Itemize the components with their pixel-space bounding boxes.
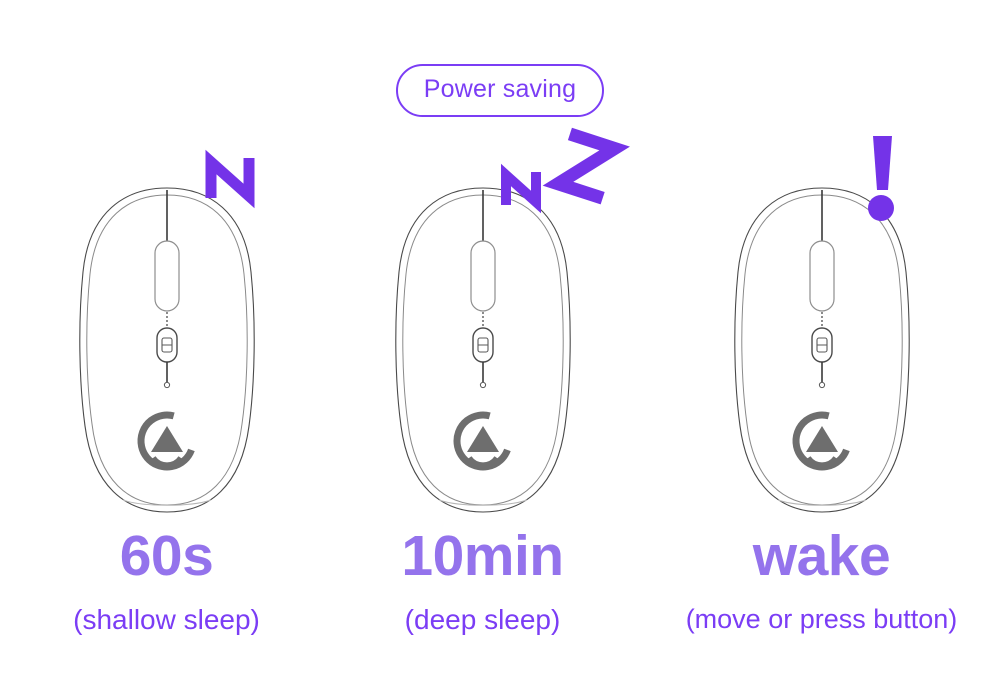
mouse-bottom-lip [123, 500, 211, 505]
stages-container: 60s (shallow sleep) [0, 0, 1000, 688]
mouse-illustration-wake [722, 186, 922, 516]
mouse-brand-logo [133, 408, 200, 475]
exclamation-mark-icon [868, 136, 894, 221]
mouse-sensor-dot [480, 382, 485, 387]
stage-shallow-sleep: 60s (shallow sleep) [0, 0, 333, 688]
wake-mark-group [855, 132, 1000, 222]
sleep-mark-group-deep [497, 132, 687, 222]
brand-logo-arc [153, 458, 181, 465]
brand-logo-arc [808, 458, 836, 465]
mouse-sensor-dot [164, 382, 169, 387]
stage-title-deep-sleep: 10min [316, 528, 649, 585]
mouse-brand-logo [788, 408, 855, 475]
sleep-mark-group-shallow [190, 132, 380, 222]
sleep-z-icon-small [506, 172, 536, 205]
exclamation-dot [868, 195, 894, 221]
mouse-illustration-deep-sleep [383, 186, 583, 516]
mouse-scroll-wheel [471, 241, 495, 311]
stage-deep-sleep: 10min (deep sleep) [316, 0, 649, 688]
sleep-z-icon-small [211, 158, 249, 198]
mouse-scroll-wheel [155, 241, 179, 311]
brand-logo-triangle [151, 426, 183, 452]
mouse-bottom-lip [439, 500, 527, 505]
mouse-brand-logo [449, 408, 516, 475]
brand-logo-triangle [806, 426, 838, 452]
brand-logo-arc [469, 458, 497, 465]
sleep-z-icon-large [554, 134, 618, 198]
brand-logo-triangle [467, 426, 499, 452]
stage-title-wake: wake [655, 528, 988, 585]
mouse-illustration-shallow-sleep [67, 186, 267, 516]
stage-subtitle-wake: (move or press button) [655, 606, 988, 633]
stage-wake: wake (move or press button) [655, 0, 988, 688]
stage-subtitle-deep-sleep: (deep sleep) [316, 606, 649, 634]
mouse-scroll-wheel [810, 241, 834, 311]
stage-subtitle-shallow-sleep: (shallow sleep) [0, 606, 333, 634]
stage-title-shallow-sleep: 60s [0, 528, 333, 585]
mouse-bottom-lip [778, 500, 866, 505]
exclamation-stem [873, 136, 892, 190]
mouse-sensor-dot [819, 382, 824, 387]
